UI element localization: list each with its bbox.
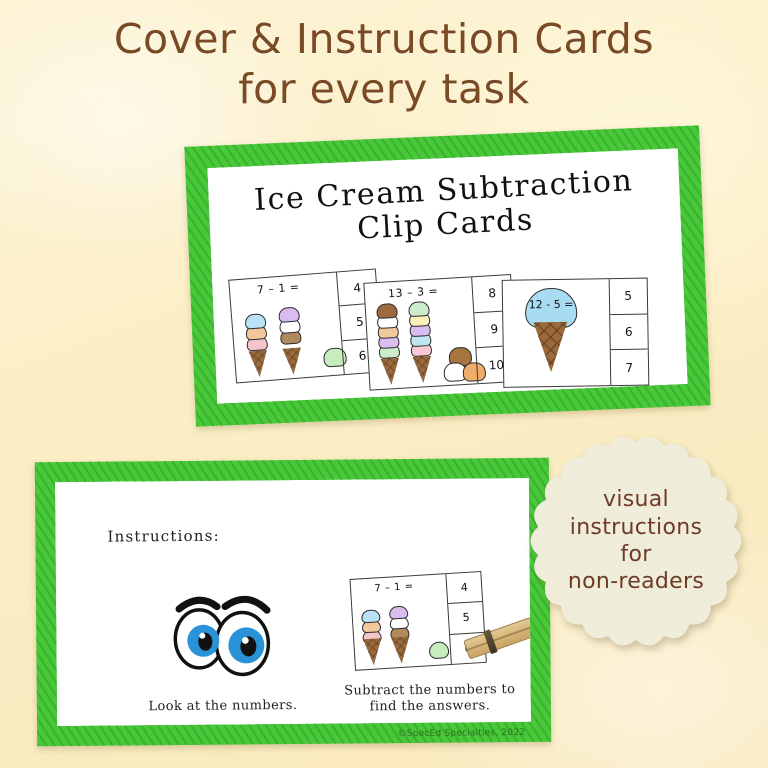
clip-card-2-artwork [366, 297, 479, 389]
badge-line-4: non-readers [568, 568, 704, 595]
eyes-icon [157, 580, 288, 681]
clip-card-sample-3[interactable]: 12 - 5 = 5 6 7 [502, 278, 650, 388]
ice-cream-cone [376, 302, 403, 385]
caption-line: Look at the numbers. [103, 698, 343, 716]
ice-cream-scoop [389, 606, 409, 620]
ice-cream-scoop [376, 303, 398, 319]
ice-cream-cone [244, 310, 271, 377]
answer-option[interactable]: 6 [610, 314, 648, 350]
ice-cream-cone [360, 606, 384, 665]
ice-cream-scoop [361, 609, 381, 623]
answer-option[interactable]: 4 [447, 572, 483, 604]
badge-text: visual instructions for non-readers [519, 424, 753, 658]
ice-cream-scoop [278, 306, 300, 323]
clip-card-sample-2[interactable]: 13 – 3 = [363, 274, 517, 391]
ice-cream-scoop [408, 301, 430, 317]
loose-ice-cream-scoop [428, 641, 449, 659]
answer-option[interactable]: 5 [609, 279, 647, 315]
instructions-label: Instructions: [107, 527, 220, 546]
badge-line-2: instructions [570, 514, 702, 541]
page-title-line1: Cover & Instruction Cards [0, 14, 768, 64]
instruction-card-inner-panel: Instructions: Look at the numbers. [55, 478, 531, 726]
sample-card-equation: 7 – 1 = [351, 580, 437, 596]
cover-card-title: Ice Cream Subtraction Clip Cards [208, 162, 682, 254]
instruction-card[interactable]: Instructions: Look at the numbers. [35, 458, 551, 746]
clip-card-1-artwork [231, 292, 345, 382]
ice-cream-cone: 12 - 5 = [517, 288, 584, 377]
instruction-step-2-caption: Subtract the numbers to find the answers… [315, 682, 545, 717]
ice-cream-cone [407, 300, 434, 383]
caption-line: Subtract the numbers to [315, 682, 545, 700]
instruction-sample-clip-card[interactable]: 7 – 1 = [349, 571, 486, 671]
visual-instructions-badge: visual instructions for non-readers [519, 424, 753, 658]
cone-shape [363, 638, 383, 665]
page-title: Cover & Instruction Cards for every task [0, 14, 768, 114]
clip-card-3-answers[interactable]: 5 6 7 [608, 279, 648, 386]
ice-cream-cone [388, 600, 412, 663]
ice-cream-cone [277, 303, 304, 374]
caption-line: find the answers. [315, 698, 545, 716]
instruction-step-2: 7 – 1 = [314, 566, 545, 717]
cone-shape [413, 356, 433, 383]
clip-card-3-artwork: 12 - 5 = [503, 281, 611, 387]
cone-shape [381, 358, 401, 385]
answer-option[interactable]: 5 [448, 602, 484, 634]
ice-cream-scoop [244, 313, 266, 330]
clip-card-sample-1[interactable]: 7 – 1 = 4 5 6 [228, 268, 384, 383]
badge-line-1: visual [603, 486, 669, 513]
copyright-notice: ©SpecEd Specialties, 2022 [398, 728, 526, 739]
answer-option[interactable]: 7 [610, 350, 648, 385]
cone-shape [283, 347, 303, 374]
cover-card[interactable]: Ice Cream Subtraction Clip Cards 7 – 1 = [184, 125, 710, 426]
cover-card-inner-panel: Ice Cream Subtraction Clip Cards 7 – 1 = [207, 148, 687, 404]
cone-shape [249, 350, 269, 377]
cone-shape [391, 636, 411, 663]
page-title-line2: for every task [0, 64, 768, 114]
clip-card-3-equation: 12 - 5 = [527, 298, 575, 312]
badge-line-3: for [620, 541, 651, 568]
instruction-step-1-caption: Look at the numbers. [103, 698, 343, 716]
sample-card-artwork [352, 594, 452, 670]
instruction-step-1: Look at the numbers. [102, 580, 343, 716]
